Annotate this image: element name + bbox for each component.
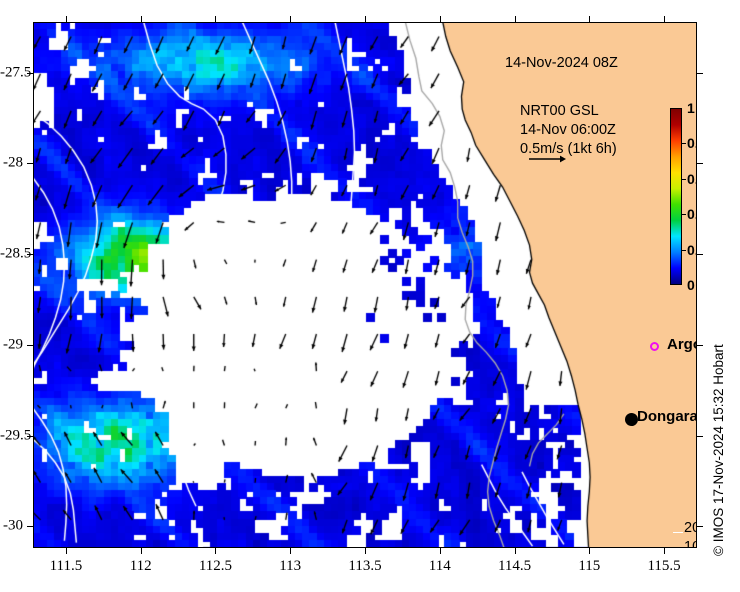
colorbar-gradient (671, 109, 681, 284)
argo-legend-label: Argo (667, 336, 697, 353)
colorbar-tick-label: 0.8 (687, 135, 697, 151)
x-axis-tick (664, 548, 665, 554)
product-name-line: NRT00 GSL (520, 102, 617, 121)
map-figure: 14-Nov-2024 08Z NRT00 GSL 14-Nov 06:00Z … (0, 0, 740, 592)
y-axis-tick-right (697, 254, 703, 255)
x-axis-tick (66, 548, 67, 554)
x-axis-tick (141, 548, 142, 554)
y-axis-tick (27, 526, 33, 527)
y-axis-tick (27, 163, 33, 164)
product-info-annotation: NRT00 GSL 14-Nov 06:00Z 0.5m/s (1kt 6h) (520, 102, 617, 159)
y-axis-tick-right (697, 73, 703, 74)
x-axis-tick-top (66, 16, 67, 22)
colorbar-tick-label: 0.2 (687, 242, 697, 258)
x-axis-tick-top (365, 16, 366, 22)
product-time-line: 14-Nov 06:00Z (520, 121, 617, 140)
x-axis-tick-top (589, 16, 590, 22)
x-axis-tick (515, 548, 516, 554)
y-axis-tick-label: -28 (0, 155, 23, 172)
map-overlay-canvas (33, 22, 697, 548)
x-axis-tick-label: 114 (429, 558, 451, 575)
y-axis-tick-right (697, 345, 703, 346)
y-axis-tick-label: -27.5 (0, 64, 23, 81)
x-axis-tick (290, 548, 291, 554)
map-plot-area[interactable]: 14-Nov-2024 08Z NRT00 GSL 14-Nov 06:00Z … (33, 22, 697, 548)
x-axis-tick-label: 113 (279, 558, 301, 575)
y-axis-tick-label: -29 (0, 336, 23, 353)
y-axis-tick-label: -29.5 (0, 427, 23, 444)
y-axis-tick-label: -30 (0, 518, 23, 535)
x-axis-tick-top (215, 16, 216, 22)
credit-text: © IMOS 17-Nov-2024 15:32 Hobart (711, 344, 726, 556)
x-axis-tick-top (664, 16, 665, 22)
x-axis-tick-label: 114.5 (498, 558, 531, 575)
x-axis-tick-label: 113.5 (348, 558, 381, 575)
x-axis-tick-top (290, 16, 291, 22)
x-axis-tick (215, 548, 216, 554)
x-axis-tick-label: 112 (130, 558, 152, 575)
datestamp-annotation: 14-Nov-2024 08Z (505, 55, 618, 71)
x-axis-tick (589, 548, 590, 554)
y-axis-tick (27, 345, 33, 346)
x-axis-tick (440, 548, 441, 554)
y-axis-tick-label: -28.5 (0, 246, 23, 263)
colorbar-tick-label: 0.6 (687, 171, 697, 187)
x-axis-tick-top (515, 16, 516, 22)
x-axis-tick (365, 548, 366, 554)
x-axis-tick-top (440, 16, 441, 22)
x-axis-tick-label: 111.5 (50, 558, 83, 575)
bathymetry-legend: 200m 1000m (684, 519, 697, 548)
colorbar-tick-mark (682, 179, 686, 180)
bathymetry-200m-sample-line (673, 532, 683, 533)
colorbar-tick-mark (682, 250, 686, 251)
bathymetry-legend-1000m: 1000m (684, 538, 697, 548)
colorbar-tick-label: 0 (687, 277, 695, 293)
y-axis-tick-right (697, 436, 703, 437)
velocity-scale-arrow-icon (528, 154, 566, 164)
colorbar-tick-mark (682, 143, 686, 144)
colorbar-tick-label: 0.4 (687, 206, 697, 222)
x-axis-tick-top (141, 16, 142, 22)
colorbar-tick-label: 1 (687, 100, 695, 116)
x-axis-tick-label: 115 (578, 558, 600, 575)
y-axis-tick-right (697, 163, 703, 164)
bathymetry-legend-200m: 200m (684, 519, 697, 538)
dongara-city-label: Dongara (637, 408, 697, 425)
colorbar (670, 108, 682, 285)
x-axis-tick-label: 112.5 (199, 558, 232, 575)
argo-marker-icon (650, 342, 659, 351)
y-axis-tick-right (697, 526, 703, 527)
x-axis-tick-label: 115.5 (647, 558, 680, 575)
colorbar-tick-mark (682, 214, 686, 215)
